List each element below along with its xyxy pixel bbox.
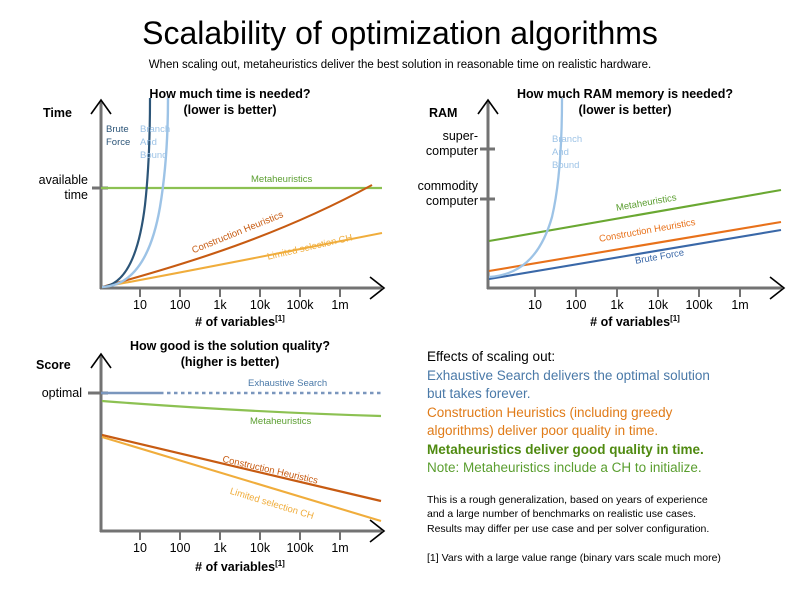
chart-ram-x-axis-caption-sup: [1]	[670, 314, 680, 323]
chart-time-xtick-4: 100k	[282, 298, 318, 312]
chart-ram-xtick-2: 1k	[599, 298, 635, 312]
notes-construction-line-1: Construction Heuristics (including greed…	[427, 404, 795, 423]
chart-quality-xtick-1: 100	[162, 541, 198, 555]
chart-ram-plot	[400, 85, 800, 325]
notes-construction-line-2: algorithms) deliver poor quality in time…	[427, 422, 795, 441]
chart-time-label-branch-and-bound: Branch And Bound	[140, 123, 170, 162]
chart-time-x-axis-caption-text: # of variables	[195, 315, 275, 329]
chart-ram-x-axis-caption-text: # of variables	[590, 315, 670, 329]
chart-quality: How good is the solution quality? (highe…	[0, 335, 400, 585]
chart-quality-label-exhaustive-search: Exhaustive Search	[248, 377, 327, 390]
chart-quality-xtick-4: 100k	[282, 541, 318, 555]
chart-quality-xtick-5: 1m	[322, 541, 358, 555]
chart-ram-xtick-0: 10	[517, 298, 553, 312]
chart-quality-xtick-2: 1k	[202, 541, 238, 555]
chart-ram-x-axis-caption: # of variables[1]	[535, 314, 735, 329]
notes-metaheuristics-note: Note: Metaheuristics include a CH to ini…	[427, 459, 795, 478]
notes-spacer-1	[427, 478, 795, 493]
chart-time-label-metaheuristics: Metaheuristics	[251, 173, 312, 186]
chart-quality-xtick-0: 10	[122, 541, 158, 555]
chart-ram-xtick-1: 100	[558, 298, 594, 312]
notes-footnote: [1] Vars with a large value range (binar…	[427, 551, 795, 566]
chart-time-xtick-0: 10	[122, 298, 158, 312]
chart-ram-xtick-4: 100k	[681, 298, 717, 312]
notes-disclaimer-line-2: and a large number of benchmarks on real…	[427, 507, 795, 522]
chart-ram-label-branch-and-bound: Branch And Bound	[552, 133, 582, 172]
chart-time-xtick-3: 10k	[242, 298, 278, 312]
notes-spacer-2	[427, 536, 795, 551]
notes-disclaimer-line-1: This is a rough generalization, based on…	[427, 493, 795, 508]
chart-time-plot	[0, 85, 400, 325]
notes-metaheuristics-bold: Metaheuristics deliver good quality in t…	[427, 441, 795, 460]
chart-quality-x-axis-caption-sup: [1]	[275, 559, 285, 568]
chart-ram-xtick-3: 10k	[640, 298, 676, 312]
page-subtitle: When scaling out, metaheuristics deliver…	[0, 57, 800, 73]
chart-time-label-brute-force: Brute Force	[106, 123, 130, 149]
notes-disclaimer-line-3: Results may differ per use case and per …	[427, 522, 795, 537]
chart-quality-label-metaheuristics: Metaheuristics	[250, 415, 311, 428]
chart-quality-x-axis-caption: # of variables[1]	[140, 559, 340, 574]
header: Scalability of optimization algorithms W…	[0, 14, 800, 73]
notes-exhaustive-line-1: Exhaustive Search delivers the optimal s…	[427, 367, 795, 386]
chart-time-xtick-2: 1k	[202, 298, 238, 312]
chart-ram: How much RAM memory is needed? (lower is…	[400, 85, 800, 325]
page-title: Scalability of optimization algorithms	[0, 14, 800, 52]
chart-quality-xtick-3: 10k	[242, 541, 278, 555]
chart-time-xtick-5: 1m	[322, 298, 358, 312]
chart-time: How much time is needed? (lower is bette…	[0, 85, 400, 325]
chart-time-xtick-1: 100	[162, 298, 198, 312]
notes-exhaustive-line-2: but takes forever.	[427, 385, 795, 404]
chart-time-x-axis-caption: # of variables[1]	[140, 314, 340, 329]
notes-heading: Effects of scaling out:	[427, 348, 795, 367]
chart-ram-xtick-5: 1m	[722, 298, 758, 312]
chart-time-x-axis-caption-sup: [1]	[275, 314, 285, 323]
notes-panel: Effects of scaling out: Exhaustive Searc…	[427, 348, 795, 566]
chart-quality-x-axis-caption-text: # of variables	[195, 560, 275, 574]
